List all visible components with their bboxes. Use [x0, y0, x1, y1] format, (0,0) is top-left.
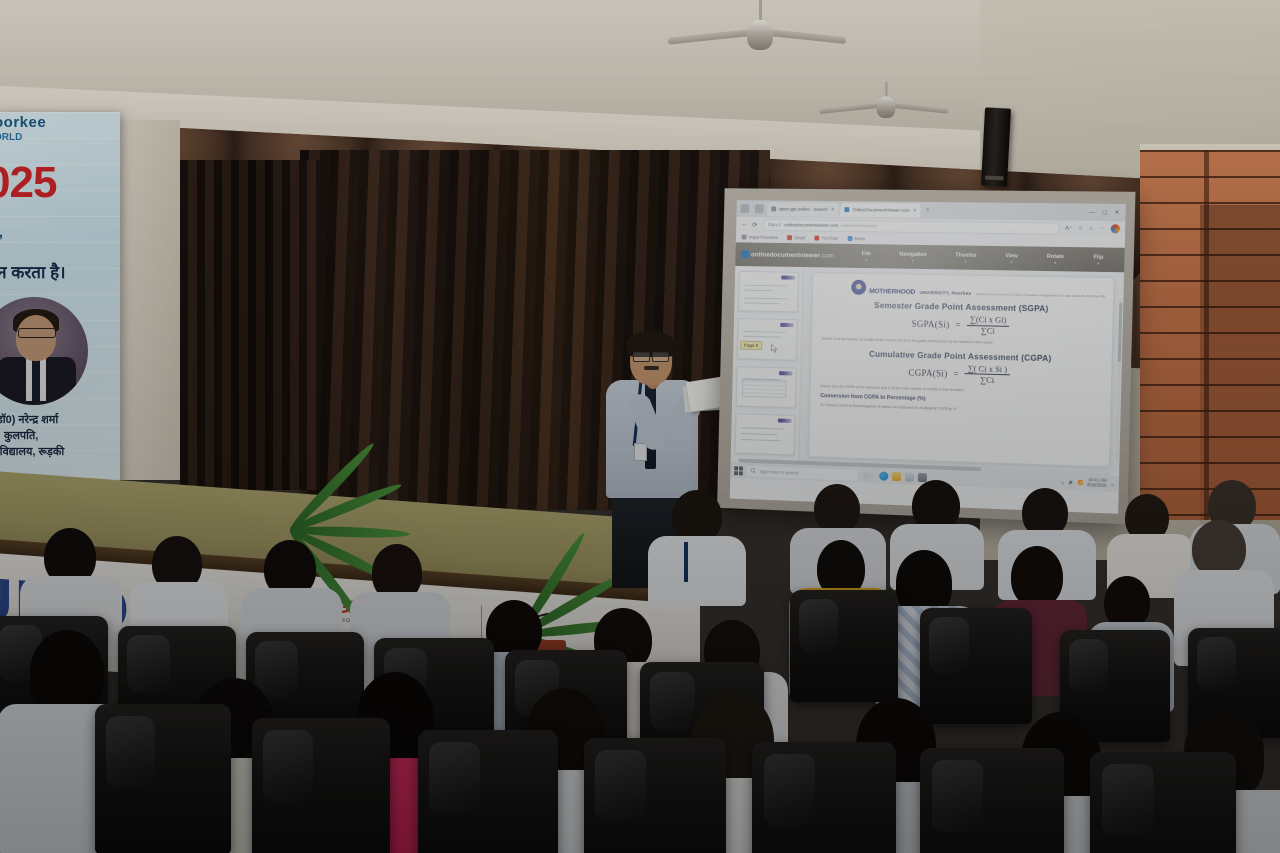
banner-year: 025 — [0, 158, 56, 208]
read-aloud-icon[interactable]: A⁺ — [1065, 225, 1072, 231]
auditorium-chair — [584, 738, 726, 853]
sgpa-equals: = — [955, 320, 960, 330]
profile-avatar-icon[interactable] — [1111, 224, 1121, 233]
motherhood-university-logo: MOTHERHOOD UNIVERSITY, Roorkee Establish… — [851, 280, 1105, 303]
banner-university: विश्वविद्यालय, रूड़की — [0, 444, 64, 459]
sgpa-lhs: SGPA(Si) — [911, 319, 949, 330]
auditorium-chair — [920, 748, 1064, 853]
bookmark-import-favorites[interactable]: Import favorites — [742, 235, 779, 240]
cursor-pointer-icon — [771, 344, 779, 354]
maximize-icon[interactable]: ▢ — [1102, 209, 1108, 215]
menu-item-view[interactable]: View ▾ — [1005, 253, 1018, 264]
url-path: /viewer/document — [841, 223, 877, 228]
auditorium-chair — [920, 608, 1032, 724]
university-seal-icon — [851, 280, 866, 295]
slide-content: MOTHERHOOD UNIVERSITY, Roorkee Establish… — [808, 272, 1115, 467]
cgpa-lhs: CGPA(Si) — [908, 368, 947, 379]
banner-person-name: 0 (डॉ0) नरेन्द्र शर्मा — [0, 412, 58, 427]
seminar-photo-scene: oorkee ORLD 025 य, ंदन करता है। 0 (डॉ0) … — [0, 0, 1280, 853]
thumbnail-item[interactable] — [738, 271, 799, 313]
viewer-menu-bar: File ▾ Navigation ▾ Thumbs ▾ View ▾ — [834, 250, 1119, 265]
chevron-down-icon: ▾ — [912, 258, 914, 262]
bookmark-gmail[interactable]: Gmail — [787, 235, 806, 240]
tab-favicon-viewer — [845, 207, 850, 212]
search-icon — [751, 468, 757, 474]
cgpa-denominator: ∑Ci — [980, 376, 994, 385]
audience-area — [0, 480, 1280, 853]
eyeglasses-icon — [633, 352, 669, 360]
document-page-area: MOTHERHOOD UNIVERSITY, Roorkee Establish… — [799, 267, 1124, 472]
wall-speaker — [981, 107, 1011, 186]
tab-title: open ppt online - Search — [779, 206, 828, 211]
bookmark-youtube[interactable]: YouTube — [814, 236, 838, 241]
site-brand-tld: .com — [820, 252, 834, 259]
chevron-down-icon: ▾ — [965, 259, 967, 263]
chevron-down-icon: ▾ — [1097, 261, 1099, 265]
cgpa-numerator: ∑( Ci x Si ) — [965, 364, 1011, 374]
chevron-down-icon: ▾ — [1010, 260, 1012, 264]
sgpa-denominator: ∑Ci — [981, 327, 995, 336]
menu-label: View — [1005, 253, 1017, 259]
sgpa-formula: SGPA(Si) = ∑(Ci x Gi) ∑Ci — [822, 312, 1102, 339]
favorite-star-icon[interactable]: ☆ — [1078, 225, 1083, 231]
banner-top-text: oorkee — [0, 114, 120, 131]
taskbar-search-input[interactable]: Type here to search — [747, 465, 858, 480]
search-placeholder: Type here to search — [759, 469, 798, 475]
bookmark-label: YouTube — [821, 236, 838, 241]
new-tab-button[interactable]: + — [923, 207, 933, 214]
university-name-line-2: UNIVERSITY, Roorkee — [919, 290, 971, 296]
thumbnail-item[interactable] — [735, 413, 796, 456]
thumbnail-item[interactable]: Page 8 — [737, 318, 798, 360]
address-bar-actions[interactable]: A⁺ ☆ ⌂ ⋯ — [1065, 224, 1120, 234]
auditorium-chair — [95, 704, 231, 853]
banner-hindi-line-1: य, — [0, 222, 3, 242]
auditorium-chair — [790, 590, 898, 702]
bookmark-label: Maps — [854, 236, 865, 241]
auditorium-chair — [252, 718, 390, 853]
tab-actions-icon[interactable] — [740, 204, 749, 213]
stage-backdrop-curtain-left — [180, 160, 320, 490]
menu-label: Rotate — [1047, 253, 1064, 259]
sgpa-numerator: ∑(Ci x Gi) — [967, 315, 1010, 325]
tab-list-icon[interactable] — [755, 204, 764, 213]
document-viewer-body: Page 8 — [731, 266, 1124, 472]
projection-screen: open ppt online - Search ✕ OnlineDocumen… — [717, 188, 1135, 524]
menu-item-flip[interactable]: Flip ▾ — [1093, 254, 1103, 265]
left-wall-column — [110, 120, 180, 480]
banner-portrait-photo — [0, 297, 88, 405]
menu-item-file[interactable]: File ▾ — [862, 251, 871, 262]
cgpa-equals: = — [953, 369, 958, 379]
banner-person-role: कुलपति, — [4, 428, 38, 443]
banner-sub-text: ORLD — [0, 132, 22, 143]
university-accreditation-text: Established under the Act No. 07 of 2015… — [976, 293, 1105, 298]
bookmark-maps[interactable]: Maps — [847, 236, 865, 241]
windows-start-icon[interactable] — [734, 466, 743, 475]
url-scheme: https:// — [768, 222, 781, 227]
left-standee-banner: oorkee ORLD 025 य, ंदन करता है। 0 (डॉ0) … — [0, 112, 120, 492]
page-tooltip: Page 8 — [740, 341, 762, 350]
menu-item-navigation[interactable]: Navigation ▾ — [899, 251, 927, 262]
menu-label: Thumbs — [955, 252, 976, 258]
sgpa-note: Where Ci is the number of credits of the… — [822, 337, 1102, 349]
chevron-down-icon: ▾ — [865, 258, 867, 262]
url-host: onlinedocumentviewer.com — [784, 222, 838, 228]
reload-icon[interactable]: ⟳ — [752, 220, 757, 228]
taskbar-edge-icon[interactable] — [879, 471, 888, 480]
back-arrow-icon[interactable]: ← — [741, 221, 747, 228]
banner-hindi-line-2: ंदन करता है। — [0, 260, 66, 283]
close-window-icon[interactable]: ✕ — [1115, 209, 1120, 215]
bookmark-label: Import favorites — [749, 235, 778, 240]
auditorium-chair — [752, 742, 896, 853]
bookmark-label: Gmail — [794, 235, 805, 240]
university-name-line-1: MOTHERHOOD — [869, 288, 915, 296]
menu-label: File — [862, 251, 871, 257]
browser-tab-2[interactable]: OnlineDocumentViewer.com ✕ — [841, 203, 921, 218]
menu-item-thumbs[interactable]: Thumbs ▾ — [955, 252, 976, 263]
thumbnail-item[interactable] — [736, 366, 797, 408]
browser-window: open ppt online - Search ✕ OnlineDocumen… — [730, 200, 1126, 514]
tab-close-icon[interactable]: ✕ — [831, 207, 835, 213]
thumbnail-panel[interactable]: Page 8 — [731, 266, 803, 461]
auditorium-chair — [1090, 752, 1236, 853]
menu-item-rotate[interactable]: Rotate ▾ — [1047, 253, 1064, 264]
minimize-icon[interactable]: — — [1089, 209, 1095, 215]
more-options-icon[interactable]: ⋯ — [1099, 226, 1105, 232]
site-brand: onlinedocumentviewer.com — [751, 251, 834, 259]
menu-label: Navigation — [899, 251, 927, 257]
collections-icon[interactable]: ⌂ — [1089, 225, 1093, 231]
chevron-down-icon: ▾ — [1054, 261, 1056, 265]
tab-close-icon[interactable]: ✕ — [913, 207, 917, 213]
cgpa-formula: CGPA(Si) = ∑( Ci x Si ) ∑Ci — [821, 360, 1101, 388]
site-brand-name: onlinedocumentviewer — [751, 251, 820, 259]
tab-title: OnlineDocumentViewer.com — [852, 207, 909, 213]
browser-tab-1[interactable]: open ppt online - Search ✕ — [767, 202, 839, 217]
window-controls[interactable]: — ▢ ✕ — [1089, 209, 1124, 215]
menu-label: Flip — [1093, 254, 1103, 260]
auditorium-chair — [418, 730, 558, 853]
site-logo-icon — [741, 250, 749, 258]
tab-favicon-search — [771, 206, 776, 211]
